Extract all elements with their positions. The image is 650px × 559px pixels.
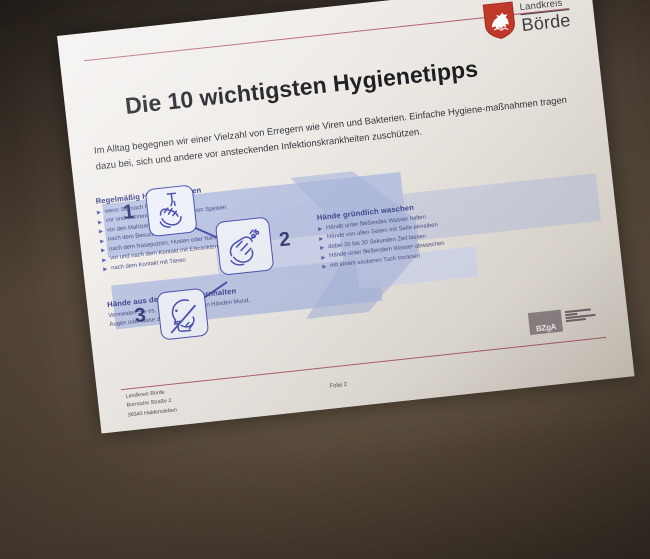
step-number-2: 2 <box>278 228 292 252</box>
projected-slide: Landkreis Börde Die 10 wichtigsten Hygie… <box>57 0 635 434</box>
footer-address: Landkreis Börde Bornsche Straße 2 39340 … <box>125 387 177 420</box>
slide-canvas: Landkreis Börde Die 10 wichtigsten Hygie… <box>57 0 635 434</box>
hands-under-faucet-icon <box>145 184 198 237</box>
coat-of-arms-white-horse-icon <box>482 1 517 41</box>
step-number-3: 3 <box>134 304 148 328</box>
bzga-mark: BZgA <box>528 310 563 335</box>
slide-number: Folie 2 <box>329 382 347 390</box>
logo-line-boerde: Börde <box>521 11 572 34</box>
bzga-wordmark: BZgA <box>536 322 557 334</box>
bzga-caption-lines <box>565 306 596 322</box>
logo-wordmark: Landkreis Börde <box>519 0 571 34</box>
face-no-touch-icon <box>156 288 209 341</box>
bzga-caption-line <box>566 318 586 322</box>
hands-with-soap-icon <box>215 216 275 275</box>
landkreis-boerde-logo: Landkreis Börde <box>482 0 572 41</box>
step-number-1: 1 <box>122 201 136 225</box>
bzga-caption-line <box>565 308 591 312</box>
